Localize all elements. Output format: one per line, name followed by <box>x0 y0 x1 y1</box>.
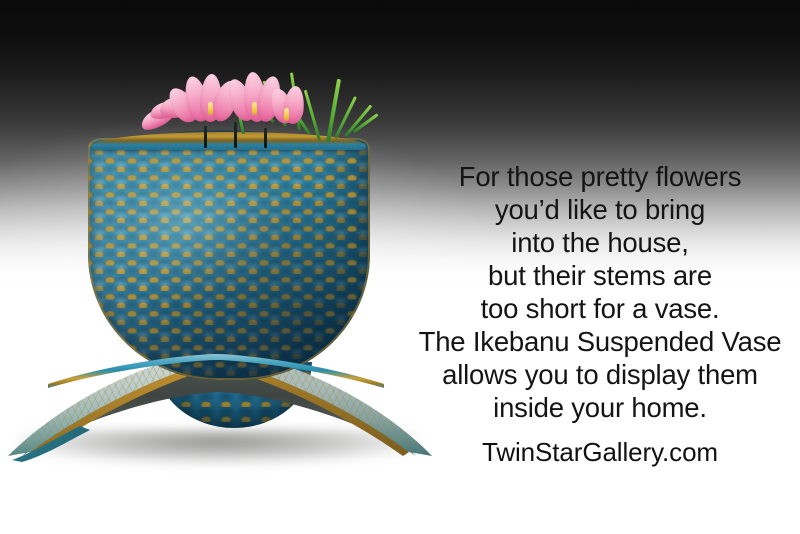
caption-line-6: The Ikebanu Suspended Vase <box>404 325 796 358</box>
flower-stem <box>234 122 237 148</box>
caption-line-5: too short for a vase. <box>404 292 796 325</box>
caption-line-4: but their stems are <box>404 259 796 292</box>
caption-line-1: For those pretty flowers <box>404 160 796 193</box>
vase-body-shading <box>88 138 370 380</box>
flower-center <box>252 102 257 115</box>
vase-body <box>88 138 370 380</box>
brand-website: TwinStarGallery.com <box>404 437 796 468</box>
flower-stem <box>264 128 267 148</box>
flower-arrangement <box>138 52 368 148</box>
caption-line-2: you’d like to bring <box>404 193 796 226</box>
product-promo-image: For those pretty flowers you’d like to b… <box>0 0 800 534</box>
caption-line-8: inside your home. <box>404 391 796 424</box>
flower-stem <box>204 126 207 148</box>
flower-center <box>208 102 213 115</box>
caption-text: For those pretty flowers you’d like to b… <box>404 160 796 424</box>
flower-center <box>284 108 289 121</box>
caption-line-7: allows you to display them <box>404 358 796 391</box>
caption-line-3: into the house, <box>404 226 796 259</box>
ikebanu-vase-photo <box>0 0 470 534</box>
